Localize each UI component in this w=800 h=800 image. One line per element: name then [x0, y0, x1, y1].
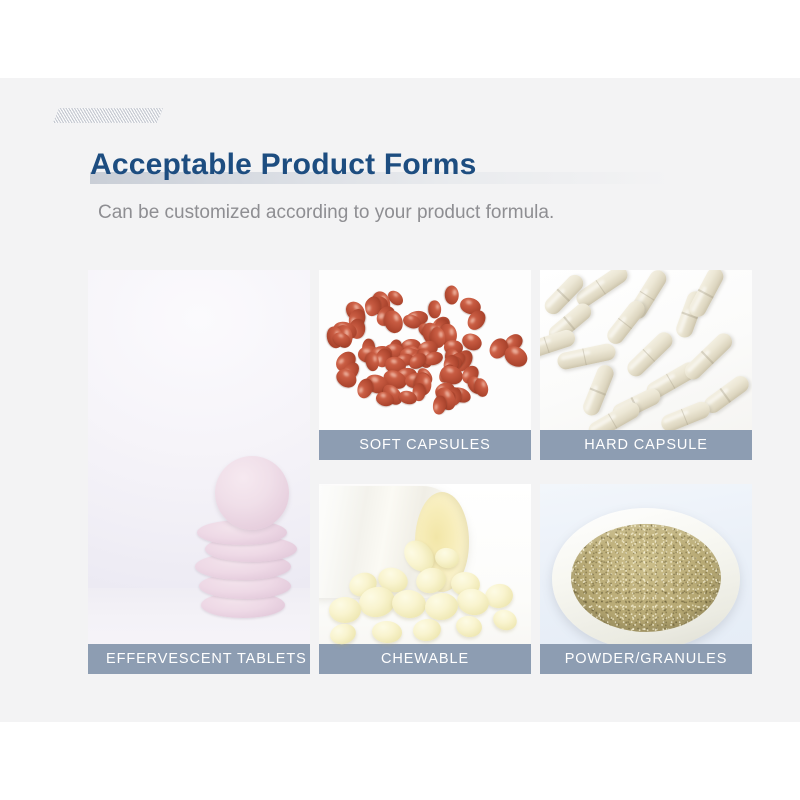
- effervescent-tablets-photo: [88, 270, 310, 674]
- product-card-powder-granules[interactable]: POWDER/GRANULES: [540, 484, 752, 674]
- title-wrap: Acceptable Product Forms: [90, 146, 760, 190]
- product-label-hard-capsule: HARD CAPSULE: [540, 430, 752, 460]
- ceramic-dish: [552, 508, 740, 650]
- product-forms-grid: EFFERVESCENT TABLETS SOFT CAPSULES HARD …: [88, 270, 752, 674]
- chewable-tablet: [329, 597, 361, 623]
- product-card-soft-capsules[interactable]: SOFT CAPSULES: [319, 270, 531, 460]
- page-title: Acceptable Product Forms: [90, 146, 760, 184]
- effervescent-tablet-stack: [193, 478, 310, 618]
- tablet-disc-upright: [215, 456, 289, 530]
- page-root: Acceptable Product Forms Can be customiz…: [0, 0, 800, 800]
- product-label-chewable: CHEWABLE: [319, 644, 531, 674]
- page-subtitle: Can be customized according to your prod…: [98, 201, 760, 225]
- product-label-effervescent-tablets: EFFERVESCENT TABLETS: [88, 644, 310, 674]
- product-label-powder-granules: POWDER/GRANULES: [540, 644, 752, 674]
- product-label-soft-capsules: SOFT CAPSULES: [319, 430, 531, 460]
- softgel-capsule: [428, 300, 441, 318]
- decorative-hatched-slash: [53, 108, 163, 123]
- product-card-hard-capsule[interactable]: HARD CAPSULE: [540, 270, 752, 460]
- product-card-chewable[interactable]: CHEWABLE: [319, 484, 531, 674]
- product-card-effervescent-tablets[interactable]: EFFERVESCENT TABLETS: [88, 270, 310, 674]
- page-header: Acceptable Product Forms Can be customiz…: [90, 146, 760, 225]
- granule-heap: [571, 524, 721, 632]
